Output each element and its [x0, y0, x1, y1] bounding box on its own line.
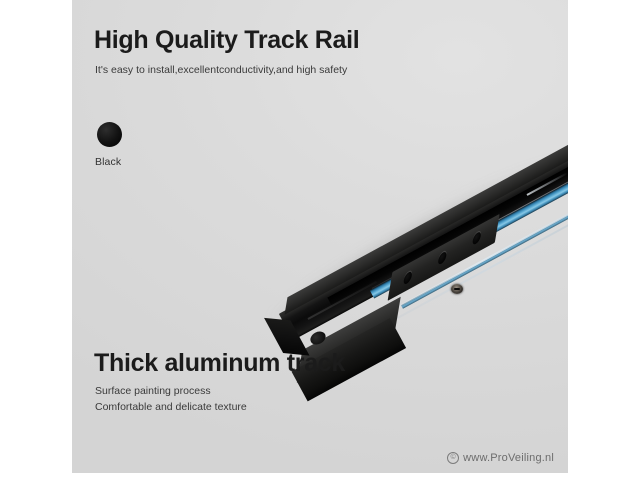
- rail-highlight-upper: [372, 127, 568, 289]
- rail-drop-shadow: [262, 145, 568, 338]
- black-color-swatch[interactable]: [97, 122, 122, 147]
- product-marketing-image: High Quality Track Rail It's easy to ins…: [72, 0, 568, 473]
- mounting-hole: [403, 270, 413, 286]
- watermark: © www.ProVeiling.nl: [447, 452, 554, 464]
- primary-subtitle: It's easy to install,excellentconductivi…: [95, 63, 347, 78]
- mounting-hole: [472, 230, 482, 246]
- color-option-group[interactable]: Black: [95, 122, 165, 168]
- feature-list: Surface painting process Comfortable and…: [95, 384, 247, 416]
- color-swatch-label: Black: [95, 156, 165, 168]
- rail-inner-channel: [327, 116, 568, 307]
- rail-far-end-glint: [527, 172, 568, 196]
- screw-slot: [454, 288, 460, 290]
- copyright-icon: ©: [447, 452, 459, 464]
- phillips-screw-icon: [451, 284, 463, 294]
- rail-highlight-lower-a: [372, 158, 568, 322]
- secondary-heading: Thick aluminum track: [94, 350, 345, 376]
- rail-highlight-lower-b: [368, 169, 568, 335]
- rail-endcap-port: [308, 329, 328, 347]
- feature-item: Surface painting process: [95, 384, 247, 400]
- rail-extrusion-body: [279, 113, 568, 340]
- rail-endcap-groove: [308, 281, 378, 320]
- rail-blue-reflection-secondary: [401, 157, 568, 308]
- screenshot-viewport: High Quality Track Rail It's easy to ins…: [0, 0, 640, 480]
- watermark-text: www.ProVeiling.nl: [463, 452, 554, 464]
- mounting-hole: [437, 250, 447, 266]
- primary-heading: High Quality Track Rail: [94, 27, 359, 53]
- rail-top-face: [285, 97, 568, 315]
- rail-blue-reflection: [370, 128, 568, 298]
- feature-item: Comfortable and delicate texture: [95, 400, 247, 416]
- rail-connector-plate: [388, 214, 500, 301]
